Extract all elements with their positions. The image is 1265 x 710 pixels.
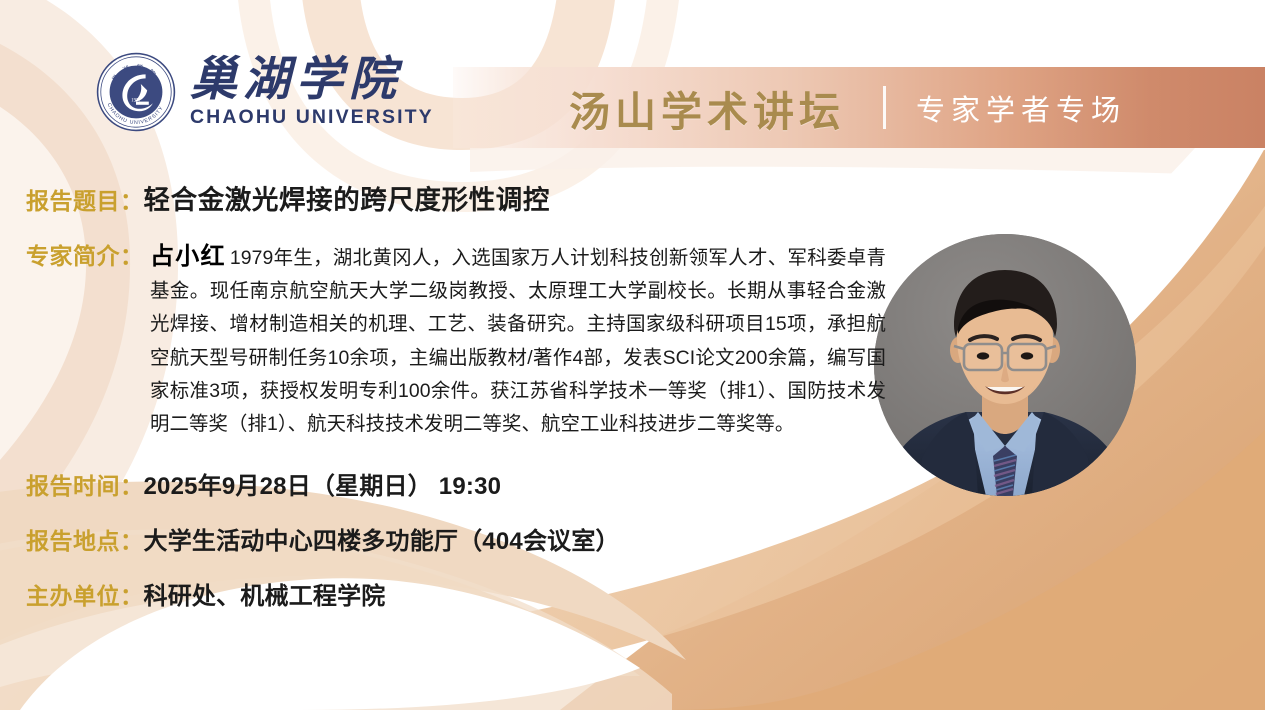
row-lecture-location: 报告地点： 大学生活动中心四楼多功能厅（404会议室）	[26, 521, 620, 556]
label-lecture-title: 报告题目：	[26, 182, 144, 216]
row-lecture-title: 报告题目： 轻合金激光焊接的跨尺度形性调控	[26, 178, 550, 217]
label-lecture-time: 报告时间：	[26, 467, 144, 501]
seminar-poster: 汤山学术讲坛 专家学者专场 1977 巢 湖 学 院 CHAOHU UNIVER…	[0, 0, 1265, 710]
row-lecture-time: 报告时间： 2025年9月28日（星期日） 19:30	[26, 466, 501, 501]
label-lecture-location: 报告地点：	[26, 522, 144, 556]
speaker-name: 占小红	[150, 243, 226, 270]
value-lecture-title: 轻合金激光焊接的跨尺度形性调控	[144, 178, 551, 217]
label-organizer: 主办单位：	[26, 577, 144, 611]
value-lecture-time: 2025年9月28日（星期日） 19:30	[144, 466, 502, 501]
value-lecture-location: 大学生活动中心四楼多功能厅（404会议室）	[144, 521, 620, 556]
speaker-bio-body: 占小红1979年生，湖北黄冈人，入选国家万人计划科技创新领军人才、军科委卓青基金…	[150, 240, 886, 441]
poster-content: 报告题目： 轻合金激光焊接的跨尺度形性调控 专家简介： 占小红1979年生，湖北…	[0, 0, 1265, 710]
label-speaker-bio: 专家简介：	[26, 240, 144, 273]
value-organizer: 科研处、机械工程学院	[144, 576, 386, 611]
row-speaker-bio: 专家简介： 占小红1979年生，湖北黄冈人，入选国家万人计划科技创新领军人才、军…	[26, 240, 886, 441]
speaker-bio-text: 1979年生，湖北黄冈人，入选国家万人计划科技创新领军人才、军科委卓青基金。现任…	[150, 247, 886, 435]
row-organizer: 主办单位： 科研处、机械工程学院	[26, 576, 386, 611]
